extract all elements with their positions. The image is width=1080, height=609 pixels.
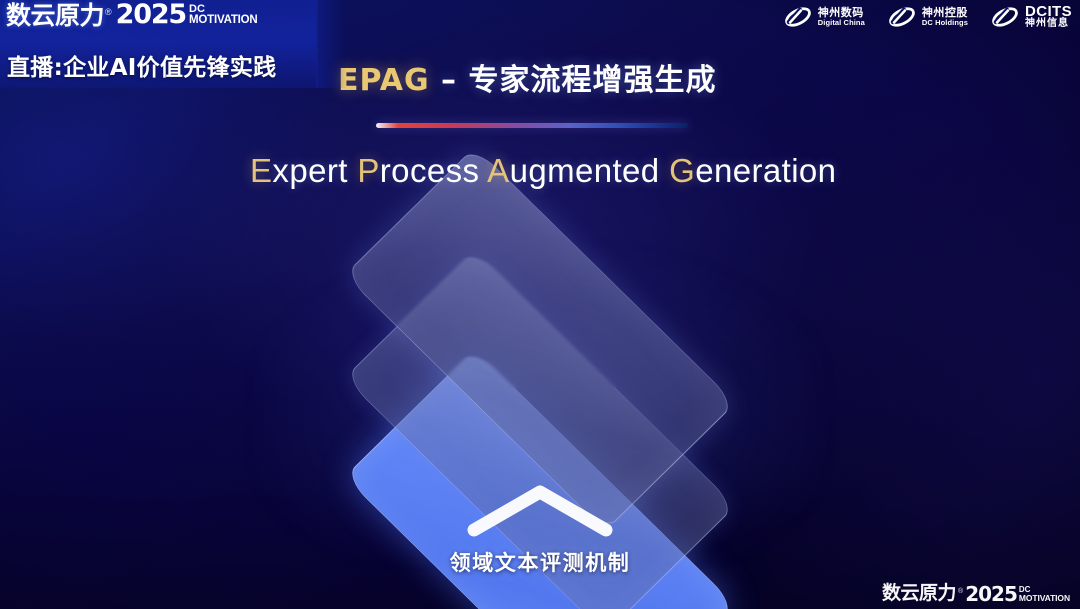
partner-label-group: DCITS 神州信息	[1025, 4, 1072, 30]
page-title-acronym: EPAG	[338, 63, 430, 98]
partner-label-group: 神州数码 Digital China	[818, 7, 865, 27]
brand-logo-cn: 数云原力	[6, 3, 104, 28]
subtitle-cap-g: G	[669, 152, 695, 189]
brand-logo-dc: DC	[189, 4, 257, 15]
live-banner-text: 直播:企业AI价值先锋实践	[7, 48, 276, 82]
partner-logo-digital-china: 神州数码 Digital China	[783, 4, 865, 30]
swoosh-icon	[783, 4, 813, 30]
layered-architecture-diagram: 领域文本评测机制 Dynamic MOE 长文本记忆 三类语义建模模块	[0, 214, 1080, 594]
subtitle-cap-a: A	[487, 152, 509, 189]
page-subtitle: Expert Process Augmented Generation	[250, 152, 836, 190]
subtitle-cap-e: E	[250, 152, 272, 189]
corner-watermark: 数云原力 ® 2025 DC MOTIVATION	[882, 584, 1070, 603]
brand-logo: 数云原力 ® 2025 DC MOTIVATION	[6, 3, 258, 28]
diagram-label-top: 领域文本评测机制	[450, 547, 631, 577]
page-title: EPAG – 专家流程增强生成	[338, 55, 716, 99]
partner-label-group: 神州控股 DC Holdings	[922, 7, 968, 27]
partner-name-en: DC Holdings	[922, 19, 968, 27]
brand-logo-registered-mark: ®	[105, 8, 112, 17]
watermark-motivation: MOTIVATION	[1019, 594, 1070, 603]
brand-logo-year: 2025	[116, 3, 186, 28]
partner-name-cn: 神州信息	[1025, 19, 1072, 30]
subtitle-rest-process: rocess	[380, 152, 480, 189]
page-title-chinese: – 专家流程增强生成	[430, 63, 717, 98]
partner-logo-dc-holdings: 神州控股 DC Holdings	[887, 4, 968, 30]
subtitle-cap-p: P	[357, 152, 379, 189]
watermark-year: 2025	[965, 585, 1017, 603]
subtitle-rest-augmented: ugmented	[510, 152, 660, 189]
watermark-cn: 数云原力	[882, 584, 956, 603]
watermark-dcm: DC MOTIVATION	[1019, 586, 1070, 603]
subtitle-rest-expert: xpert	[272, 152, 347, 189]
subtitle-space-1	[348, 152, 358, 189]
subtitle-space-3	[660, 152, 670, 189]
brand-logo-dcm: DC MOTIVATION	[189, 4, 257, 27]
partner-logo-group: 神州数码 Digital China 神州控股 DC Holdings	[783, 4, 1072, 30]
partner-name-en: Digital China	[818, 19, 865, 27]
slide-canvas: 数云原力 ® 2025 DC MOTIVATION 直播:企业AI价值先锋实践 …	[0, 0, 1080, 609]
partner-name-en: DCITS	[1025, 4, 1072, 19]
swoosh-icon	[887, 4, 917, 30]
brand-logo-motivation: MOTIVATION	[189, 15, 257, 27]
partner-logo-dcits: DCITS 神州信息	[990, 4, 1072, 30]
subtitle-rest-generation: eneration	[695, 152, 836, 189]
swoosh-icon	[990, 4, 1020, 30]
title-divider	[376, 123, 688, 128]
subtitle-space-2	[479, 152, 487, 189]
watermark-registered: ®	[958, 588, 963, 595]
